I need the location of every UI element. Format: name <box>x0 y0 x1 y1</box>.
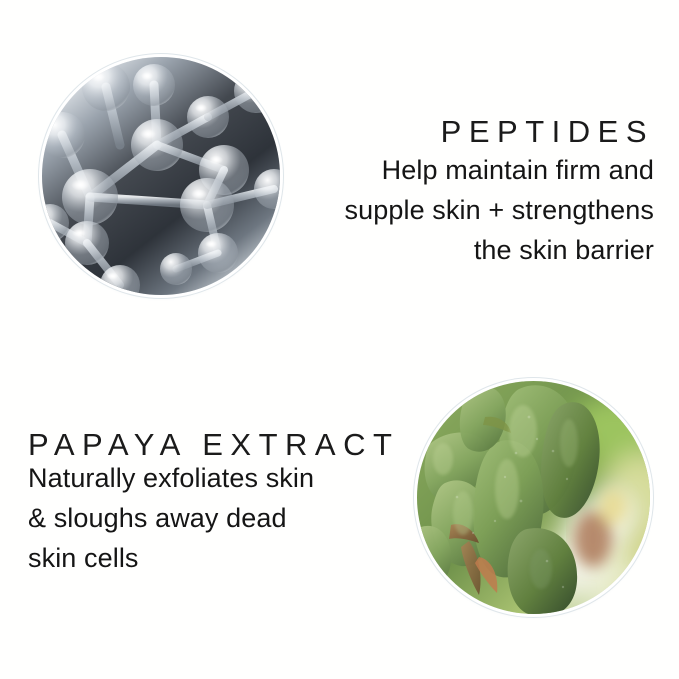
peptides-heading: PEPTIDES <box>441 116 654 147</box>
peptides-line-2: supple skin + strengthens <box>234 190 654 230</box>
papaya-line-1: Naturally exfoliates skin <box>28 458 398 498</box>
papaya-extract-heading: PAPAYA EXTRACT <box>28 429 399 460</box>
papaya-extract-description: Naturally exfoliates skin & sloughs away… <box>28 458 398 578</box>
infographic-canvas: PEPTIDES Help maintain firm and supple s… <box>0 0 679 679</box>
peptides-line-3: the skin barrier <box>234 230 654 270</box>
papaya-image <box>417 381 650 614</box>
papaya-line-3: skin cells <box>28 538 398 578</box>
peptides-description: Help maintain firm and supple skin + str… <box>234 150 654 270</box>
papaya-line-2: & sloughs away dead <box>28 498 398 538</box>
peptides-line-1: Help maintain firm and <box>234 150 654 190</box>
